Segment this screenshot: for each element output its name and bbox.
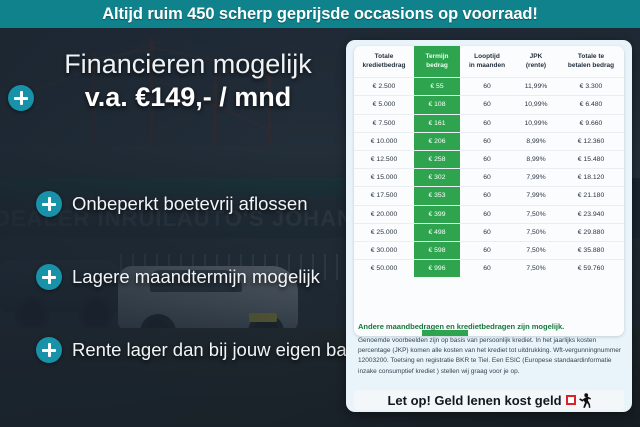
plus-icon bbox=[8, 85, 34, 111]
table-header-row: Totale kredietbedrag Termijn bedrag Loop… bbox=[354, 46, 624, 78]
table-cell: 7,50% bbox=[514, 241, 558, 259]
table-cell: € 15.000 bbox=[354, 169, 414, 187]
table-cell: 7,99% bbox=[514, 169, 558, 187]
table-cell: € 996 bbox=[414, 260, 460, 278]
table-row: € 7.500€ 1616010,99%€ 9.660 bbox=[354, 114, 624, 132]
advert-canvas: DEALER INRUILAUTO'S JOHAN MEURE ALTIJD 4… bbox=[0, 0, 640, 427]
table-cell: € 29.880 bbox=[558, 223, 624, 241]
warning-bar: Let op! Geld lenen kost geld bbox=[354, 390, 624, 410]
table-cell: € 9.660 bbox=[558, 114, 624, 132]
table-cell: 60 bbox=[460, 150, 514, 168]
table-cell: 60 bbox=[460, 114, 514, 132]
table-cell: 60 bbox=[460, 205, 514, 223]
table-cell: € 598 bbox=[414, 241, 460, 259]
table-cell: 11,99% bbox=[514, 78, 558, 96]
table-row: € 15.000€ 302607,99%€ 18.120 bbox=[354, 169, 624, 187]
col-header-total-credit: Totale kredietbedrag bbox=[354, 46, 414, 78]
table-row: € 5.000€ 1086010,99%€ 6.480 bbox=[354, 96, 624, 114]
table-cell: € 302 bbox=[414, 169, 460, 187]
finance-card: Totale kredietbedrag Termijn bedrag Loop… bbox=[346, 40, 632, 412]
warning-text: Let op! Geld lenen kost geld bbox=[387, 393, 561, 408]
table-cell: € 399 bbox=[414, 205, 460, 223]
table-cell: 60 bbox=[460, 96, 514, 114]
headline: Financieren mogelijk v.a. €149,- / mnd bbox=[38, 48, 338, 114]
table-cell: € 23.940 bbox=[558, 205, 624, 223]
table-cell: € 59.760 bbox=[558, 260, 624, 278]
table-cell: 60 bbox=[460, 223, 514, 241]
rate-table: Totale kredietbedrag Termijn bedrag Loop… bbox=[354, 46, 624, 277]
table-row: € 2.500€ 556011,99%€ 3.300 bbox=[354, 78, 624, 96]
col-header-term-amount: Termijn bedrag bbox=[414, 46, 460, 78]
table-cell: 60 bbox=[460, 241, 514, 259]
table-row: € 50.000€ 996607,50%€ 59.760 bbox=[354, 260, 624, 278]
top-banner: Altijd ruim 450 scherp geprijsde occasio… bbox=[0, 0, 640, 28]
table-cell: € 35.880 bbox=[558, 241, 624, 259]
table-row: € 30.000€ 598607,50%€ 35.880 bbox=[354, 241, 624, 259]
table-cell: € 258 bbox=[414, 150, 460, 168]
table-cell: € 25.000 bbox=[354, 223, 414, 241]
table-cell: 60 bbox=[460, 132, 514, 150]
table-cell: € 18.120 bbox=[558, 169, 624, 187]
col-header-duration: Looptijd in maanden bbox=[460, 46, 514, 78]
table-cell: 7,50% bbox=[514, 260, 558, 278]
table-cell: € 353 bbox=[414, 187, 460, 205]
table-row: € 12.500€ 258608,99%€ 15.480 bbox=[354, 150, 624, 168]
table-cell: € 108 bbox=[414, 96, 460, 114]
table-cell: € 12.360 bbox=[558, 132, 624, 150]
table-row: € 10.000€ 206608,99%€ 12.360 bbox=[354, 132, 624, 150]
table-cell: € 2.500 bbox=[354, 78, 414, 96]
table-cell: € 20.000 bbox=[354, 205, 414, 223]
table-cell: € 30.000 bbox=[354, 241, 414, 259]
col-header-jkp: JPK (rente) bbox=[514, 46, 558, 78]
headline-line-1: Financieren mogelijk bbox=[38, 48, 338, 80]
table-cell: 60 bbox=[460, 260, 514, 278]
note-title: Andere maandbedragen en kredietbedragen … bbox=[358, 322, 620, 332]
table-cell: € 206 bbox=[414, 132, 460, 150]
table-cell: 60 bbox=[460, 169, 514, 187]
headline-line-2: v.a. €149,- / mnd bbox=[38, 80, 338, 114]
table-cell: 10,99% bbox=[514, 96, 558, 114]
plus-icon bbox=[36, 264, 62, 290]
left-column: Financieren mogelijk v.a. €149,- / mnd O… bbox=[0, 28, 346, 427]
table-row: € 20.000€ 399607,50%€ 23.940 bbox=[354, 205, 624, 223]
banner-text: Altijd ruim 450 scherp geprijsde occasio… bbox=[102, 5, 538, 24]
col-header-total-payable: Totale te betalen bedrag bbox=[558, 46, 624, 78]
table-cell: € 6.480 bbox=[558, 96, 624, 114]
note-body: Genoemde voorbeelden zijn op basis van p… bbox=[358, 336, 622, 377]
table-cell: 7,99% bbox=[514, 187, 558, 205]
table-cell: € 50.000 bbox=[354, 260, 414, 278]
table-cell: € 3.300 bbox=[558, 78, 624, 96]
table-cell: € 7.500 bbox=[354, 114, 414, 132]
table-cell: € 12.500 bbox=[354, 150, 414, 168]
table-cell: € 161 bbox=[414, 114, 460, 132]
running-man-icon bbox=[566, 393, 591, 408]
rate-table-body: € 2.500€ 556011,99%€ 3.300€ 5.000€ 10860… bbox=[354, 78, 624, 278]
table-cell: € 10.000 bbox=[354, 132, 414, 150]
table-cell: € 21.180 bbox=[558, 187, 624, 205]
table-cell: € 15.480 bbox=[558, 150, 624, 168]
plus-icon bbox=[36, 337, 62, 363]
bullet-item-0: Onbeperkt boetevrij aflossen bbox=[72, 193, 308, 215]
plus-icon bbox=[36, 191, 62, 217]
table-cell: 8,99% bbox=[514, 150, 558, 168]
rate-table-container: Totale kredietbedrag Termijn bedrag Loop… bbox=[354, 46, 624, 336]
table-cell: 7,50% bbox=[514, 205, 558, 223]
table-row: € 25.000€ 498607,50%€ 29.880 bbox=[354, 223, 624, 241]
table-cell: € 498 bbox=[414, 223, 460, 241]
table-row: € 17.500€ 353607,99%€ 21.180 bbox=[354, 187, 624, 205]
bullet-item-1: Lagere maandtermijn mogelijk bbox=[72, 266, 320, 288]
table-cell: € 5.000 bbox=[354, 96, 414, 114]
table-cell: € 55 bbox=[414, 78, 460, 96]
table-cell: 60 bbox=[460, 187, 514, 205]
table-cell: 8,99% bbox=[514, 132, 558, 150]
bullet-item-2: Rente lager dan bij jouw eigen bank bbox=[72, 339, 366, 361]
table-cell: 60 bbox=[460, 78, 514, 96]
table-cell: 10,99% bbox=[514, 114, 558, 132]
table-cell: € 17.500 bbox=[354, 187, 414, 205]
table-cell: 7,50% bbox=[514, 223, 558, 241]
